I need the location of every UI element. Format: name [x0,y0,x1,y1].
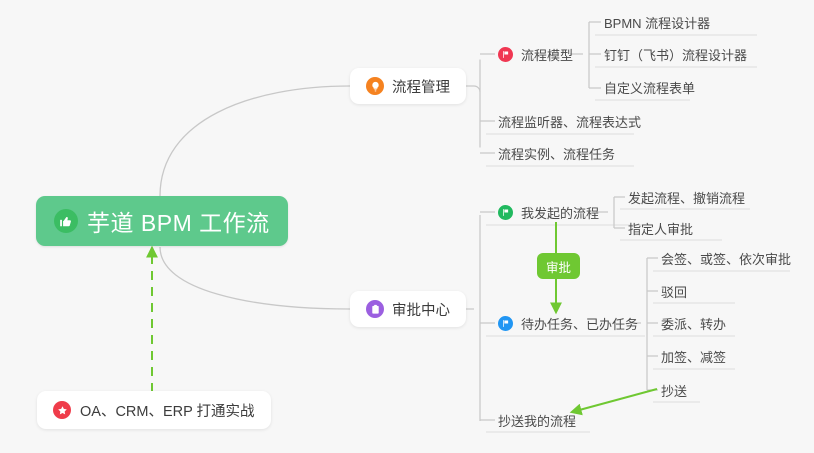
node-todo-done-tasks[interactable]: 待办任务、已办任务 [494,312,642,334]
branch-approval-center[interactable]: 审批中心 [350,291,466,327]
node-reject[interactable]: 驳回 [657,280,691,302]
badge-label: 审批 [546,257,571,276]
node-delegate-transfer[interactable]: 委派、转办 [657,312,730,334]
approval-badge[interactable]: 审批 [537,253,580,279]
node-label: 抄送我的流程 [498,411,576,430]
node-label: 发起流程、撤销流程 [628,188,745,207]
node-countersign-types[interactable]: 会签、或签、依次审批 [657,247,795,269]
node-label: 流程实例、流程任务 [498,144,615,163]
node-cc-to-me-processes[interactable]: 抄送我的流程 [494,409,580,431]
node-label: 待办任务、已办任务 [521,314,638,333]
lightbulb-icon [366,77,384,95]
root-node[interactable]: 芋道 BPM 工作流 [36,196,288,246]
node-bpmn-designer[interactable]: BPMN 流程设计器 [600,11,714,33]
node-label: 钉钉（飞书）流程设计器 [604,45,747,64]
node-my-initiated-processes[interactable]: 我发起的流程 [494,201,603,223]
star-icon [53,401,71,419]
node-label: 我发起的流程 [521,203,599,222]
node-label: 会签、或签、依次审批 [661,249,791,268]
node-process-instance-task[interactable]: 流程实例、流程任务 [494,142,619,164]
flag-icon [498,205,513,220]
node-custom-process-form[interactable]: 自定义流程表单 [600,76,699,98]
branch-label: 流程管理 [392,76,450,97]
mindmap-canvas: 芋道 BPM 工作流 流程管理 流程模型 BPMN 流程设计器 钉钉（飞书）流程… [0,0,814,453]
node-start-cancel-process[interactable]: 发起流程、撤销流程 [624,186,749,208]
node-label: 流程模型 [521,45,573,64]
thumbs-up-icon [54,209,78,233]
node-label: BPMN 流程设计器 [604,13,710,32]
node-label: 自定义流程表单 [604,78,695,97]
branch-process-management[interactable]: 流程管理 [350,68,466,104]
callout-integration-practice[interactable]: OA、CRM、ERP 打通实战 [37,391,271,429]
node-dingtalk-feishu-designer[interactable]: 钉钉（飞书）流程设计器 [600,43,751,65]
flag-icon [498,47,513,62]
root-label: 芋道 BPM 工作流 [87,204,270,238]
node-label: 加签、减签 [661,347,726,366]
node-add-remove-sign[interactable]: 加签、减签 [657,345,730,367]
node-label: 流程监听器、流程表达式 [498,112,641,131]
clipboard-icon [366,300,384,318]
node-carbon-copy[interactable]: 抄送 [657,379,691,401]
flag-icon [498,316,513,331]
node-label: 指定人审批 [628,219,693,238]
node-label: 驳回 [661,282,687,301]
node-process-listener-expression[interactable]: 流程监听器、流程表达式 [494,110,645,132]
node-label: 委派、转办 [661,314,726,333]
branch-label: 审批中心 [392,299,450,320]
node-label: 抄送 [661,381,687,400]
node-process-model[interactable]: 流程模型 [494,43,577,65]
node-assignee-approval[interactable]: 指定人审批 [624,217,697,239]
callout-label: OA、CRM、ERP 打通实战 [80,400,255,421]
